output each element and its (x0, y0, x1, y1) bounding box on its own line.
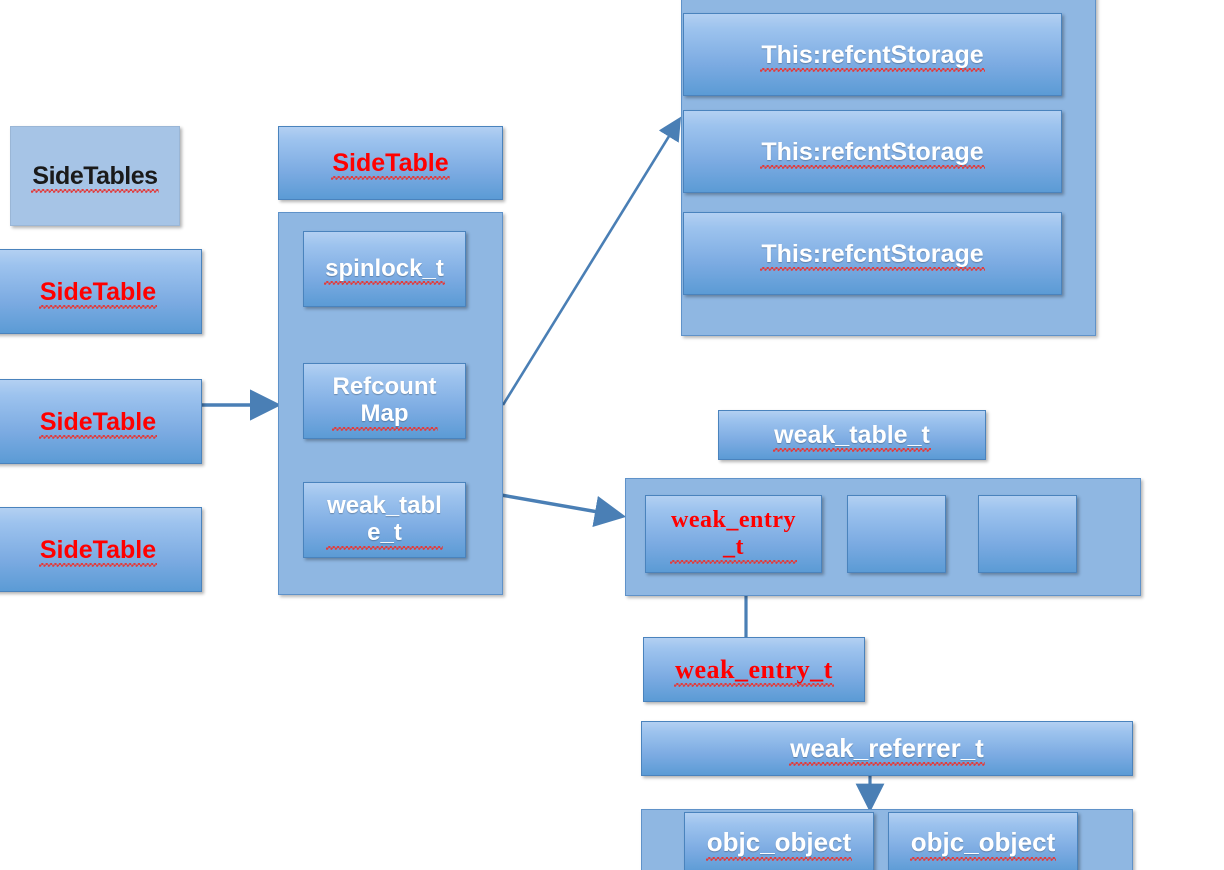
sidetable-item-2[interactable]: SideTable (0, 507, 202, 592)
refcnt-storage-slot-0[interactable]: This:refcntStorage (683, 13, 1062, 96)
refcnt-storage-slot-1[interactable]: This:refcntStorage (683, 110, 1062, 193)
diagram-canvas: SideTables SideTable SideTable SideTable… (0, 0, 1224, 870)
refcnt-storage-slot-0-label: This:refcntStorage (761, 41, 983, 69)
connector-weaktable-to-weakentry (742, 590, 750, 642)
weak-table-bucket-0-label: weak_entry _t (671, 507, 796, 561)
connector-weakentry-to-referrer (750, 700, 758, 722)
weak-table-header-label: weak_table_t (774, 421, 930, 449)
objc-object-1-label: objc_object (911, 828, 1055, 857)
sidetable-item-2-label: SideTable (40, 536, 156, 564)
objc-object-0[interactable]: objc_object (684, 812, 874, 870)
sidetable-member-spinlock-label: spinlock_t (325, 256, 444, 283)
sidetable-member-refcountmap-label: Refcount Map (333, 374, 437, 428)
objc-object-1[interactable]: objc_object (888, 812, 1078, 870)
sidetable-item-0[interactable]: SideTable (0, 249, 202, 334)
connector-detail-to-weaktable (495, 485, 635, 533)
connector-sidetable-to-detail (198, 390, 290, 422)
sidetable-member-weaktable-label: weak_tabl e_t (327, 493, 442, 547)
weak-table-header[interactable]: weak_table_t (718, 410, 986, 460)
weak-referrer-box[interactable]: weak_referrer_t (641, 721, 1133, 776)
sidetable-detail-header-label: SideTable (332, 149, 448, 177)
sidetable-detail-header[interactable]: SideTable (278, 126, 503, 200)
weak-entry-box[interactable]: weak_entry_t (643, 637, 865, 702)
weak-table-bucket-2[interactable] (978, 495, 1077, 573)
objc-object-0-label: objc_object (707, 828, 851, 857)
connector-detail-to-refcntstorage (495, 100, 695, 420)
sidetables-header-label: SideTables (32, 162, 157, 190)
sidetables-header-box[interactable]: SideTables (10, 126, 180, 226)
sidetable-member-spinlock[interactable]: spinlock_t (303, 231, 466, 307)
weak-entry-label: weak_entry_t (675, 655, 833, 684)
sidetable-member-refcountmap[interactable]: Refcount Map (303, 363, 466, 439)
refcnt-storage-slot-2-label: This:refcntStorage (761, 240, 983, 268)
sidetable-member-weaktable[interactable]: weak_tabl e_t (303, 482, 466, 558)
refcnt-storage-slot-1-label: This:refcntStorage (761, 138, 983, 166)
weak-referrer-label: weak_referrer_t (790, 734, 984, 763)
weak-table-bucket-0[interactable]: weak_entry _t (645, 495, 822, 573)
sidetable-item-0-label: SideTable (40, 278, 156, 306)
sidetable-item-1[interactable]: SideTable (0, 379, 202, 464)
sidetable-item-1-label: SideTable (40, 408, 156, 436)
refcnt-storage-slot-2[interactable]: This:refcntStorage (683, 212, 1062, 295)
weak-table-bucket-1[interactable] (847, 495, 946, 573)
